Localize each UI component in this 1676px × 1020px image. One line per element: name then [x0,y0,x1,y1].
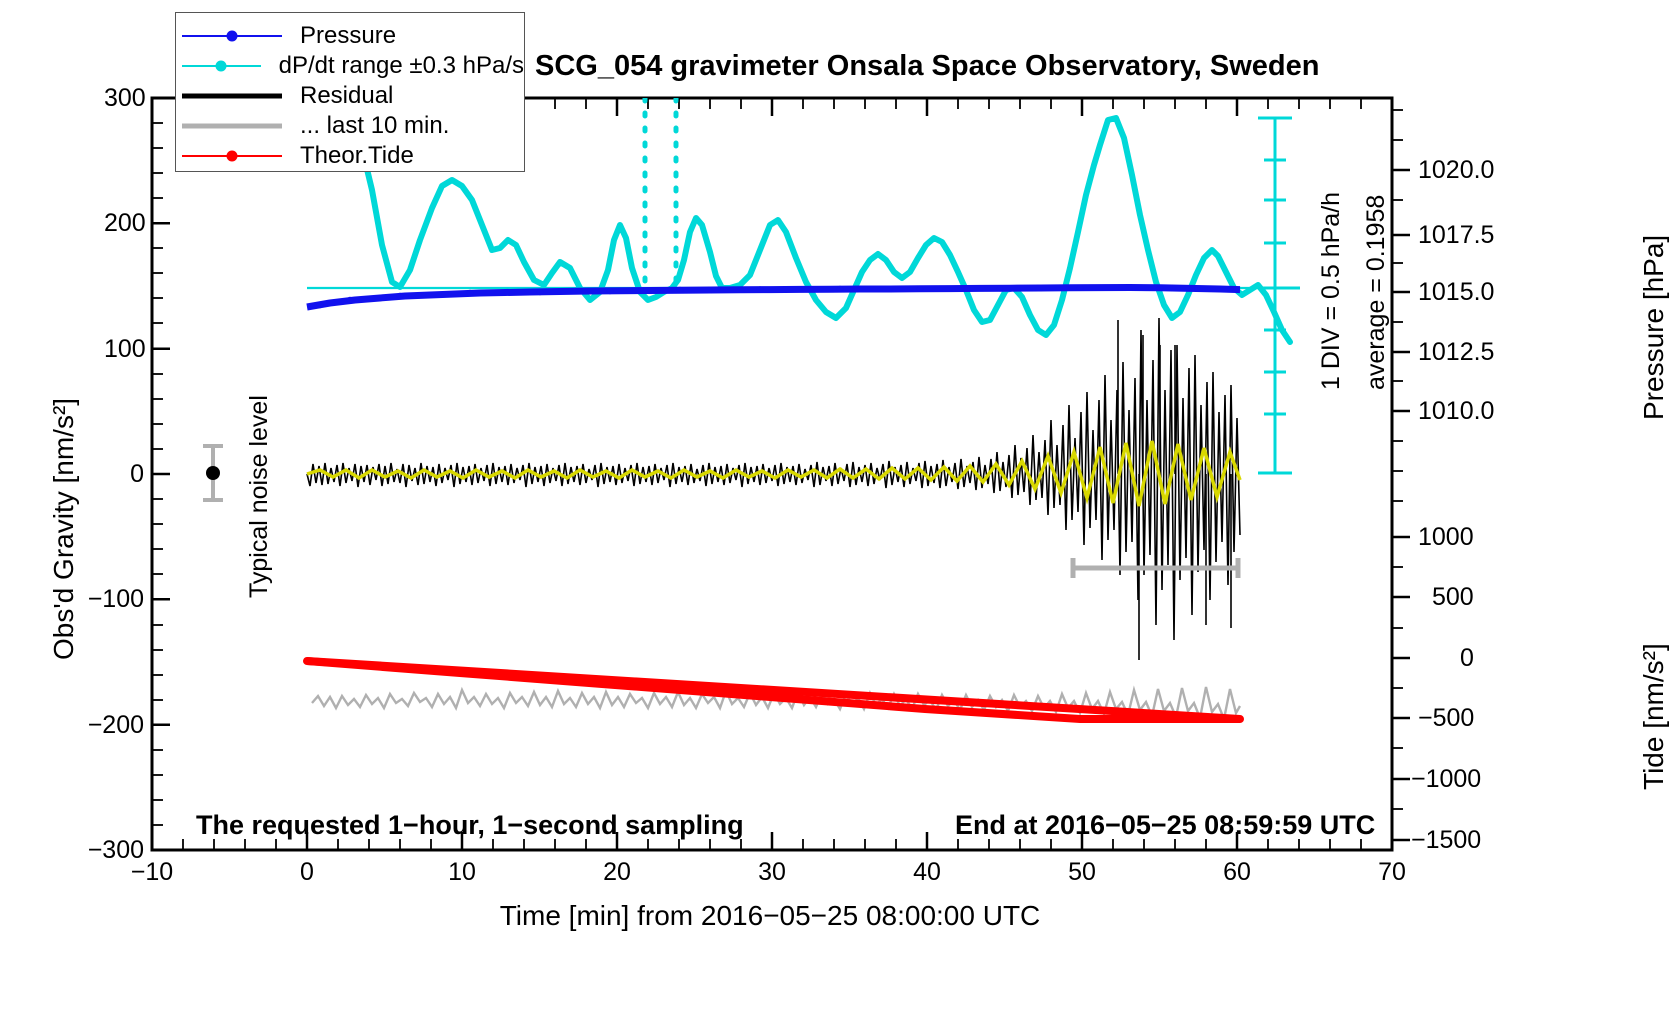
dpdt-offscale-spike [645,98,676,290]
div-scale-label: 1 DIV = 0.5 hPa/h [1317,192,1346,390]
right-pressure-axis-title: Pressure [hPa] [1638,235,1670,420]
right-axis-minor-ticks [1392,110,1403,809]
left-tick-100: 100 [104,335,144,364]
sampling-note: The requested 1−hour, 1−second sampling [196,810,744,841]
typical-noise-errorbar [203,446,223,500]
bottom-axis-title: Time [min] from 2016−05−25 08:00:00 UTC [0,900,1540,932]
legend-item-dpdt: dP/dt range ±0.3 hPa/s [176,51,524,81]
bottom-tick-20: 20 [592,858,642,887]
left-tick-200: 200 [104,209,144,238]
legend-swatch-dpdt [176,51,267,81]
right-tide-axis-title: Tide [nm/s²] [1638,643,1670,790]
right-tide-tick-0: 0 [1460,644,1474,673]
average-label: average = 0.1958 [1362,195,1391,390]
right-pressure-tick-1012: 1012.5 [1418,338,1494,367]
left-tick-0: 0 [104,460,144,489]
legend-swatch-last10 [176,111,288,141]
right-tide-tick-1000: 1000 [1418,523,1474,552]
bottom-tick-0: 0 [287,858,327,887]
left-axis-title: Obs'd Gravity [nm/s²] [48,398,80,660]
right-tide-tick-m1500: −1500 [1411,826,1481,855]
legend-swatch-pressure [176,21,288,51]
right-pressure-tick-1015: 1015.0 [1418,278,1494,307]
bottom-tick-30: 30 [747,858,797,887]
legend-label-tide: Theor.Tide [300,142,414,170]
legend-item-last10: ... last 10 min. [176,111,524,141]
bottom-tick-60: 60 [1212,858,1262,887]
right-pressure-tick-1017: 1017.5 [1418,221,1494,250]
bottom-tick-40: 40 [902,858,952,887]
right-tide-tick-m1000: −1000 [1411,765,1481,794]
right-tide-tick-m500: −500 [1418,704,1474,733]
end-time-note: End at 2016−05−25 08:59:59 UTC [955,810,1375,841]
legend-label-last10: ... last 10 min. [300,112,449,140]
tide-trace-b [307,661,1240,719]
right-pressure-tick-1020: 1020.0 [1418,156,1494,185]
legend-label-residual: Residual [300,82,393,110]
bottom-tick-10: 10 [437,858,487,887]
pressure-trace [307,288,1240,308]
figure-root: SCG_054 gravimeter Onsala Space Observat… [0,0,1676,1020]
legend: Pressure dP/dt range ±0.3 hPa/s Residual… [175,12,525,172]
right-axis-ticks [1392,170,1410,840]
legend-swatch-residual [176,81,288,111]
typical-noise-label: Typical noise level [245,395,274,598]
bottom-tick-50: 50 [1057,858,1107,887]
legend-item-tide: Theor.Tide [176,141,524,171]
bottom-tick-70: 70 [1367,858,1417,887]
left-tick-m200: −200 [84,711,144,740]
bottom-tick-m10: −10 [122,858,182,887]
legend-swatch-tide [176,141,288,171]
right-tide-tick-500: 500 [1432,583,1474,612]
left-tick-300: 300 [104,84,144,113]
legend-item-residual: Residual [176,81,524,111]
left-axis-ticks [152,98,170,850]
legend-label-dpdt: dP/dt range ±0.3 hPa/s [279,52,524,80]
right-pressure-tick-1010: 1010.0 [1418,397,1494,426]
legend-item-pressure: Pressure [176,21,524,51]
left-tick-m100: −100 [84,585,144,614]
page-title: SCG_054 gravimeter Onsala Space Observat… [535,50,1319,83]
legend-label-pressure: Pressure [300,22,396,50]
